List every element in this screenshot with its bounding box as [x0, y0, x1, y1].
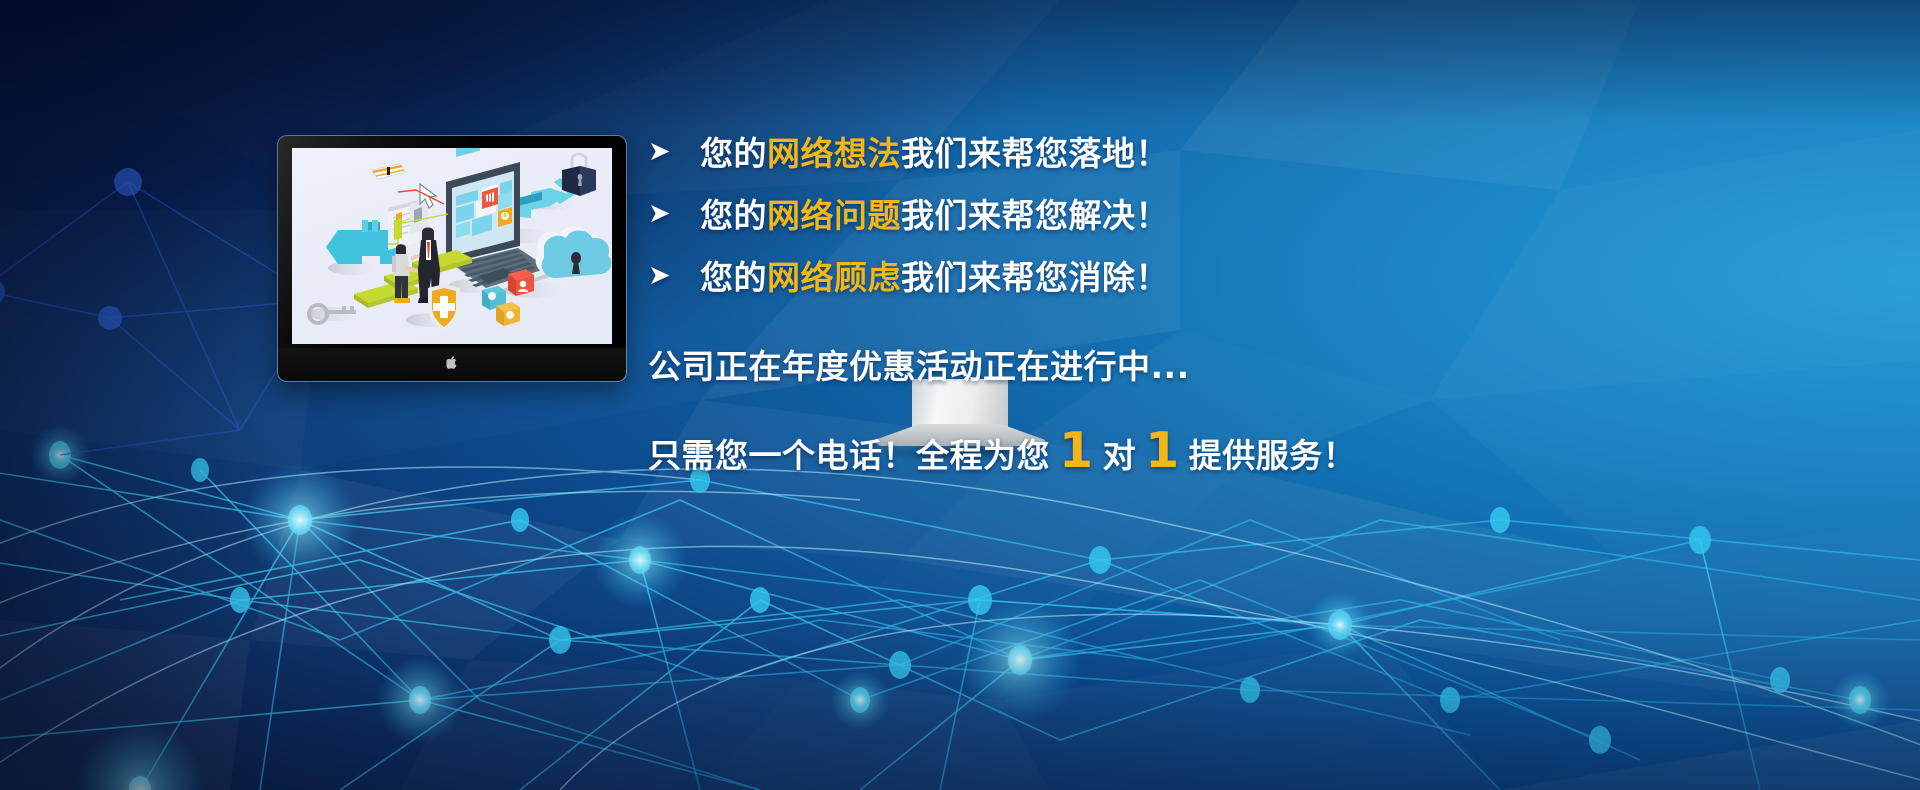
cta-number-second: 1 — [1136, 426, 1189, 475]
bullet-1-post: 我们来帮您落地！ — [901, 134, 1169, 173]
monitor-screen — [292, 148, 612, 344]
right-arrow-icon: ➤ — [648, 200, 700, 227]
call-to-action-line: 只需您一个电话！全程为您 1 对 1 提供服务！ — [648, 426, 1828, 477]
bullet-3-highlight: 网络顾虑 — [767, 258, 901, 297]
cta-middle: 对 — [1103, 429, 1137, 477]
right-arrow-icon: ➤ — [648, 138, 700, 165]
bullet-1-pre: 您的 — [700, 134, 767, 173]
bullet-row-1: ➤ 您的网络想法我们来帮您落地！ — [648, 120, 1828, 182]
bullet-2-highlight: 网络问题 — [767, 196, 901, 235]
apple-logo-icon — [447, 356, 458, 369]
bullet-2-pre: 您的 — [700, 196, 767, 235]
bullet-row-2: ➤ 您的网络问题我们来帮您解决！ — [648, 182, 1828, 244]
bullet-2-post: 我们来帮您解决！ — [901, 196, 1169, 235]
user-app-icon — [508, 269, 534, 296]
bullet-1-highlight: 网络想法 — [767, 134, 901, 173]
desktop-monitor — [278, 136, 626, 381]
right-arrow-icon: ➤ — [648, 262, 700, 289]
cta-part-1: 只需您一个电话！全程为您 — [648, 429, 1050, 477]
bullet-line-3: 您的网络顾虑我们来帮您消除！ — [700, 251, 1169, 299]
bullet-3-pre: 您的 — [700, 258, 767, 297]
bullet-line-1: 您的网络想法我们来帮您落地！ — [700, 127, 1169, 175]
isometric-network-security-illustration — [292, 148, 612, 344]
cta-number-first: 1 — [1050, 426, 1103, 475]
promo-line: 公司正在年度优惠活动正在进行中... — [648, 340, 1828, 388]
bullet-line-2: 您的网络问题我们来帮您解决！ — [700, 189, 1169, 237]
monitor-chin — [278, 348, 626, 381]
cta-part-2: 提供服务！ — [1189, 429, 1357, 477]
promotional-banner: ➤ 您的网络想法我们来帮您落地！ ➤ 您的网络问题我们来帮您解决！ ➤ 您的网络… — [0, 0, 1920, 790]
banner-copy: ➤ 您的网络想法我们来帮您落地！ ➤ 您的网络问题我们来帮您解决！ ➤ 您的网络… — [648, 120, 1828, 477]
bullet-row-3: ➤ 您的网络顾虑我们来帮您消除！ — [648, 244, 1828, 306]
bullet-3-post: 我们来帮您消除！ — [901, 258, 1169, 297]
